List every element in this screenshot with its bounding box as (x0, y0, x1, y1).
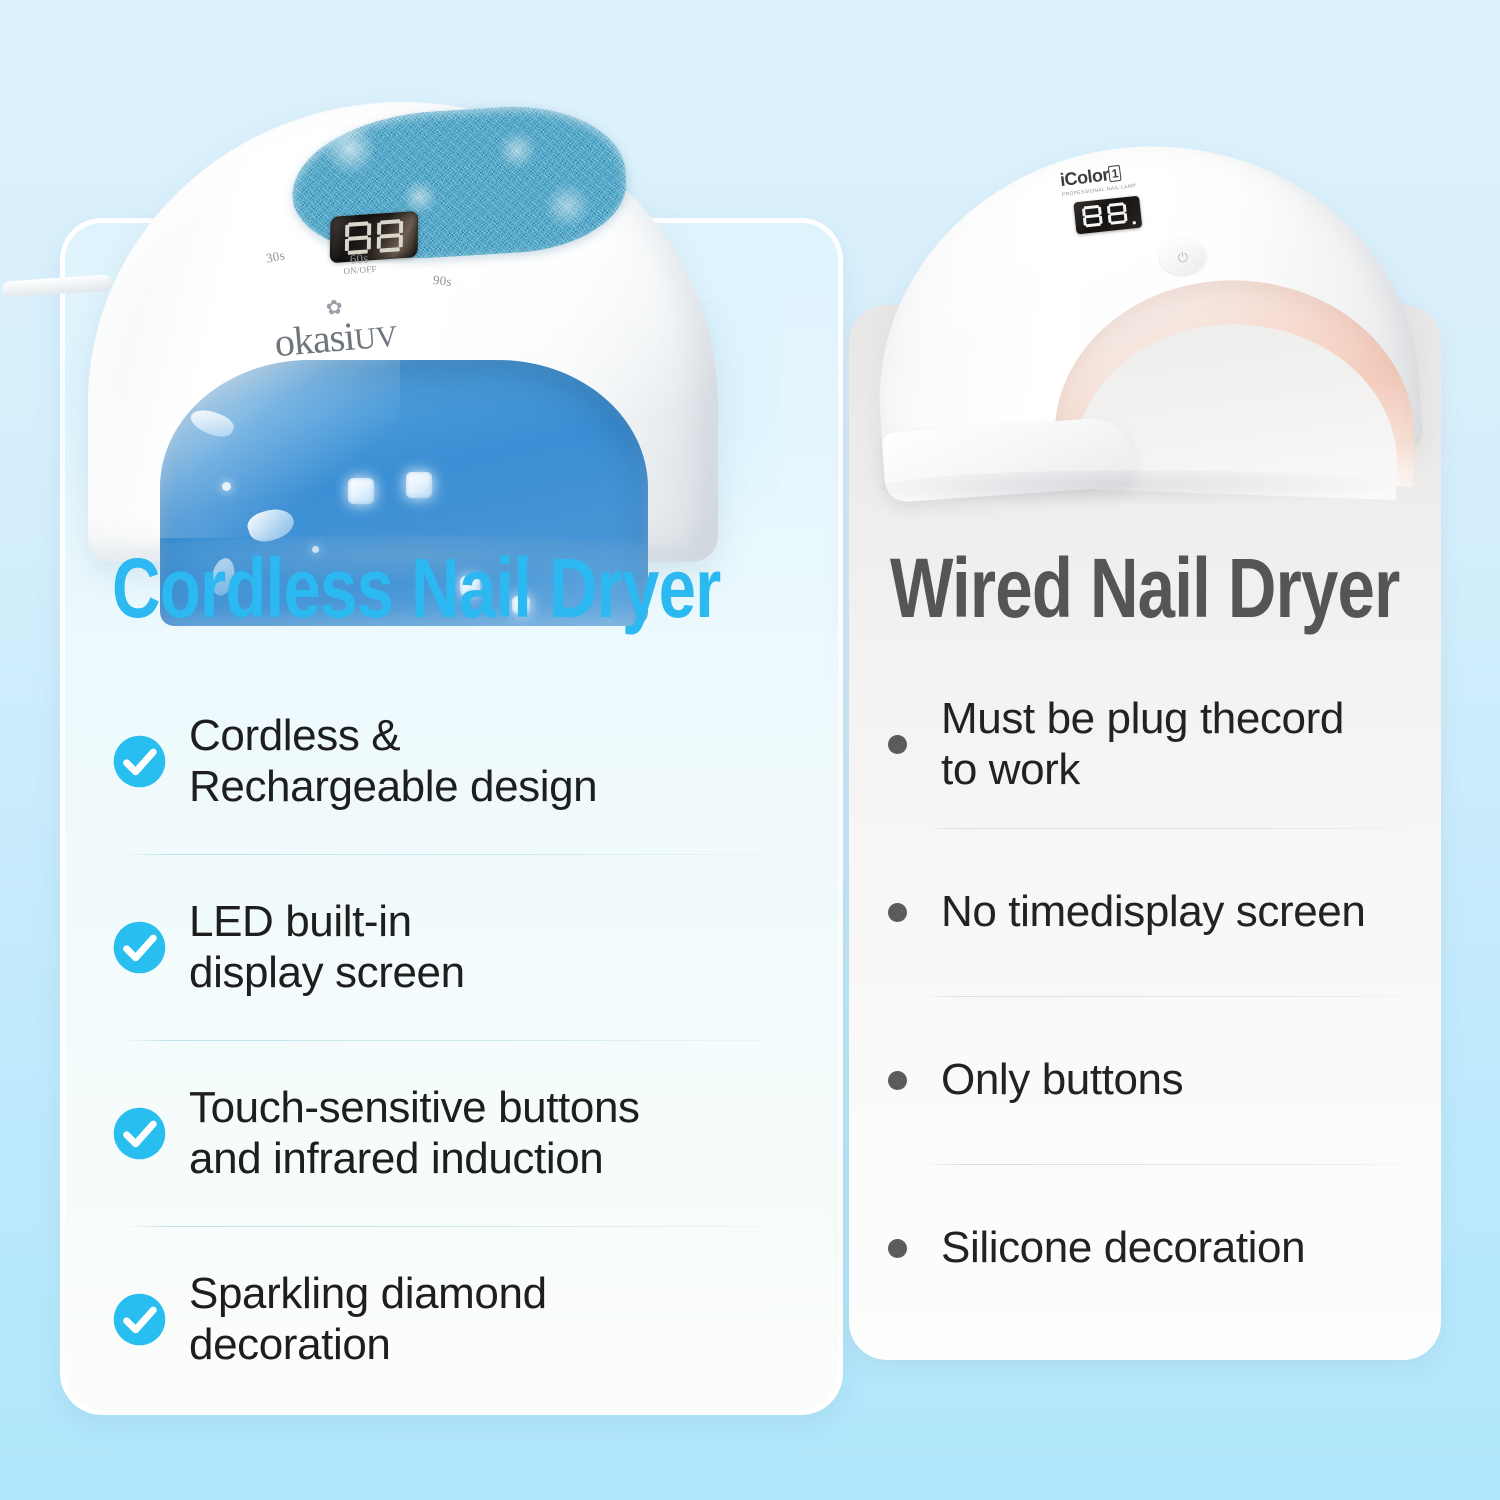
display-digit (1105, 202, 1129, 226)
check-circle-icon (112, 1106, 167, 1161)
feature-text: Only buttons (941, 1054, 1183, 1105)
feature-text: Touch-sensitive buttons and infrared ind… (189, 1082, 640, 1184)
icolor-brand-logo: iColor1 PROFESSIONAL NAIL LAMP (1059, 161, 1137, 198)
feature-text: Must be plug thecord to work (941, 693, 1344, 795)
feature-item: Touch-sensitive buttons and infrared ind… (112, 1040, 792, 1226)
brand-name-text: iColor (1059, 164, 1110, 190)
check-circle-icon (112, 920, 167, 975)
cordless-feature-list: Cordless & Rechargeable design LED built… (112, 668, 792, 1412)
brand-mark-icon: 1 (1108, 165, 1122, 182)
display-decimal-dot (1132, 221, 1135, 224)
cordless-panel-title: Cordless Nail Dryer (112, 540, 721, 637)
check-circle-icon (112, 734, 167, 789)
feature-text: No timedisplay screen (941, 886, 1365, 937)
feature-item: No timedisplay screen (888, 828, 1418, 996)
feature-item: Must be plug thecord to work (888, 660, 1418, 828)
wired-feature-list: Must be plug thecord to work No timedisp… (888, 660, 1418, 1332)
feature-text: Cordless & Rechargeable design (189, 710, 597, 812)
bullet-dot-icon (888, 1071, 907, 1090)
feature-text: Sparkling diamond decoration (189, 1268, 547, 1370)
feature-item: LED built-in display screen (112, 854, 792, 1040)
power-button[interactable]: ⏻ (1158, 237, 1208, 276)
feature-text: LED built-in display screen (189, 896, 465, 998)
brand-subtitle: PROFESSIONAL NAIL LAMP (1062, 183, 1137, 198)
display-digit (1080, 205, 1104, 229)
feature-item: Sparkling diamond decoration (112, 1226, 792, 1412)
bullet-dot-icon (888, 735, 907, 754)
feature-text: Silicone decoration (941, 1222, 1305, 1273)
bullet-dot-icon (888, 1239, 907, 1258)
feature-item: Cordless & Rechargeable design (112, 668, 792, 854)
feature-item: Silicone decoration (888, 1164, 1418, 1332)
feature-item: Only buttons (888, 996, 1418, 1164)
power-icon: ⏻ (1177, 250, 1189, 264)
bullet-dot-icon (888, 903, 907, 922)
check-circle-icon (112, 1292, 167, 1347)
lcd-timer-display (1073, 196, 1142, 235)
wired-panel-title: Wired Nail Dryer (890, 540, 1399, 637)
